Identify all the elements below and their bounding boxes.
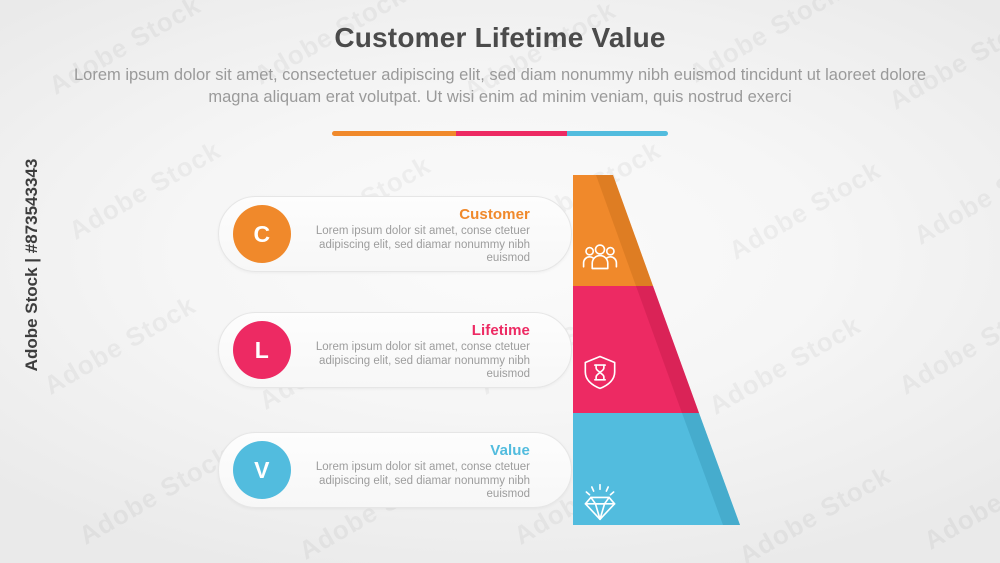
- pyramid-chart: [573, 175, 788, 525]
- item-bullet-badge: L: [233, 321, 291, 379]
- item-title: Lifetime: [315, 322, 530, 339]
- item-text-block: Customer Lorem ipsum dolor sit amet, con…: [315, 206, 530, 266]
- list-item[interactable]: C Customer Lorem ipsum dolor sit amet, c…: [218, 196, 572, 272]
- watermark-credit: Adobe Stock | #873543343: [22, 140, 42, 390]
- item-letter: L: [255, 337, 270, 364]
- item-text-block: Lifetime Lorem ipsum dolor sit amet, con…: [315, 322, 530, 382]
- item-description: Lorem ipsum dolor sit amet, conse ctetue…: [315, 341, 530, 382]
- item-letter: V: [254, 457, 270, 484]
- list-item[interactable]: L Lifetime Lorem ipsum dolor sit amet, c…: [218, 312, 572, 388]
- item-bullet-badge: C: [233, 205, 291, 263]
- pyramid-svg: [573, 175, 788, 525]
- item-description: Lorem ipsum dolor sit amet, conse ctetue…: [315, 461, 530, 502]
- item-description: Lorem ipsum dolor sit amet, conse ctetue…: [315, 225, 530, 266]
- item-text-block: Value Lorem ipsum dolor sit amet, conse …: [315, 442, 530, 502]
- item-bullet-badge: V: [233, 441, 291, 499]
- infographic-canvas: Adobe Stock Adobe Stock Adobe Stock Adob…: [0, 0, 1000, 563]
- watermark-strip: Adobe Stock | #873543343: [2, 0, 32, 563]
- item-title: Customer: [315, 206, 530, 223]
- item-letter: C: [253, 221, 270, 248]
- items-list: C Customer Lorem ipsum dolor sit amet, c…: [0, 0, 1000, 563]
- list-item[interactable]: V Value Lorem ipsum dolor sit amet, cons…: [218, 432, 572, 508]
- item-title: Value: [315, 442, 530, 459]
